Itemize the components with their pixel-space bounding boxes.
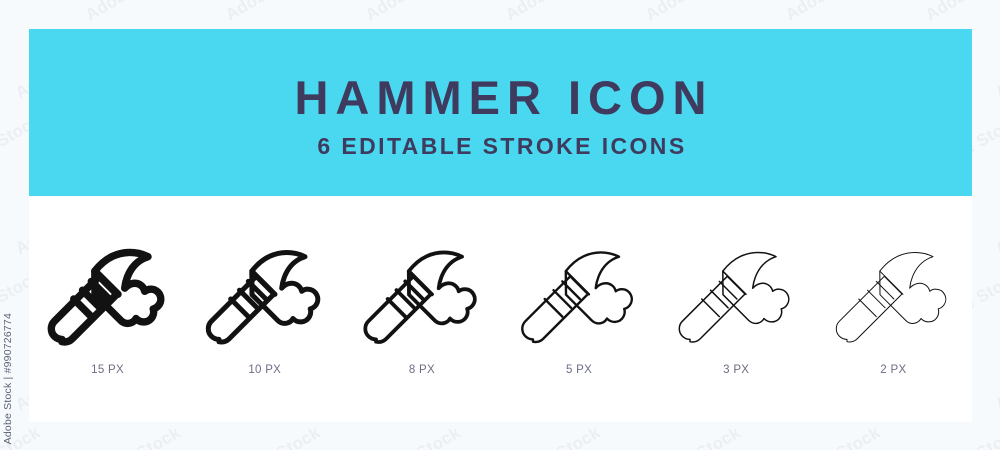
watermark-text: Adobe Stock xyxy=(82,423,184,450)
hammer-icon xyxy=(361,230,483,352)
watermark-text: Adobe Stock xyxy=(502,0,604,25)
header-band: HAMMER ICON 6 EDITABLE STROKE ICONS xyxy=(29,29,972,196)
hammer-icon xyxy=(518,230,640,352)
icon-size-label: 10 PX xyxy=(248,364,281,376)
watermark-text: Adobe Stock xyxy=(82,0,184,25)
icon-set-card: HAMMER ICON 6 EDITABLE STROKE ICONS 15 P… xyxy=(29,29,972,422)
watermark-text: Adobe Stock xyxy=(922,423,1000,450)
icon-cell-3px[interactable]: 3 PX xyxy=(661,230,811,376)
hammer-icon xyxy=(832,230,954,352)
watermark-text: Adobe Stock xyxy=(782,423,884,450)
watermark-text: Adobe Stock xyxy=(222,0,324,25)
watermark-text: Adobe Stock xyxy=(782,0,884,25)
watermark-text: Adobe Stock xyxy=(642,423,744,450)
watermark-text: Adobe Stock xyxy=(502,423,604,450)
hammer-icon xyxy=(675,230,797,352)
icon-size-label: 3 PX xyxy=(723,364,749,376)
page-subtitle: 6 EDITABLE STROKE ICONS xyxy=(317,135,686,158)
watermark-text: Adobe Stock xyxy=(362,0,464,25)
icon-size-label: 5 PX xyxy=(566,364,592,376)
icon-cell-10px[interactable]: 10 PX xyxy=(190,230,340,376)
icon-cell-15px[interactable]: 15 PX xyxy=(33,230,183,376)
watermark-text: Adobe Stock xyxy=(642,0,744,25)
watermark-text: Adobe Stock xyxy=(992,33,1000,103)
icon-size-label: 8 PX xyxy=(409,364,435,376)
watermark-credit: Adobe Stock | #990726774 xyxy=(2,313,14,444)
icon-strip: 15 PX10 PX8 PX5 PX3 PX2 PX xyxy=(29,196,972,422)
icon-cell-2px[interactable]: 2 PX xyxy=(818,230,968,376)
page-root: Adobe StockAdobe StockAdobe StockAdobe S… xyxy=(0,0,1000,450)
page-title: HAMMER ICON xyxy=(294,68,713,121)
hammer-icon xyxy=(47,230,169,352)
watermark-text: Adobe Stock xyxy=(992,189,1000,259)
watermark-text: Adobe Stock xyxy=(922,0,1000,25)
hammer-icon xyxy=(204,230,326,352)
watermark-text: Adobe Stock xyxy=(222,423,324,450)
icon-size-label: 15 PX xyxy=(91,364,124,376)
icon-size-label: 2 PX xyxy=(880,364,906,376)
watermark-text: Adobe Stock xyxy=(362,423,464,450)
icon-cell-8px[interactable]: 8 PX xyxy=(347,230,497,376)
watermark-text: Adobe Stock xyxy=(992,345,1000,415)
watermark-text: Adobe Stock xyxy=(0,0,44,25)
icon-cell-5px[interactable]: 5 PX xyxy=(504,230,654,376)
